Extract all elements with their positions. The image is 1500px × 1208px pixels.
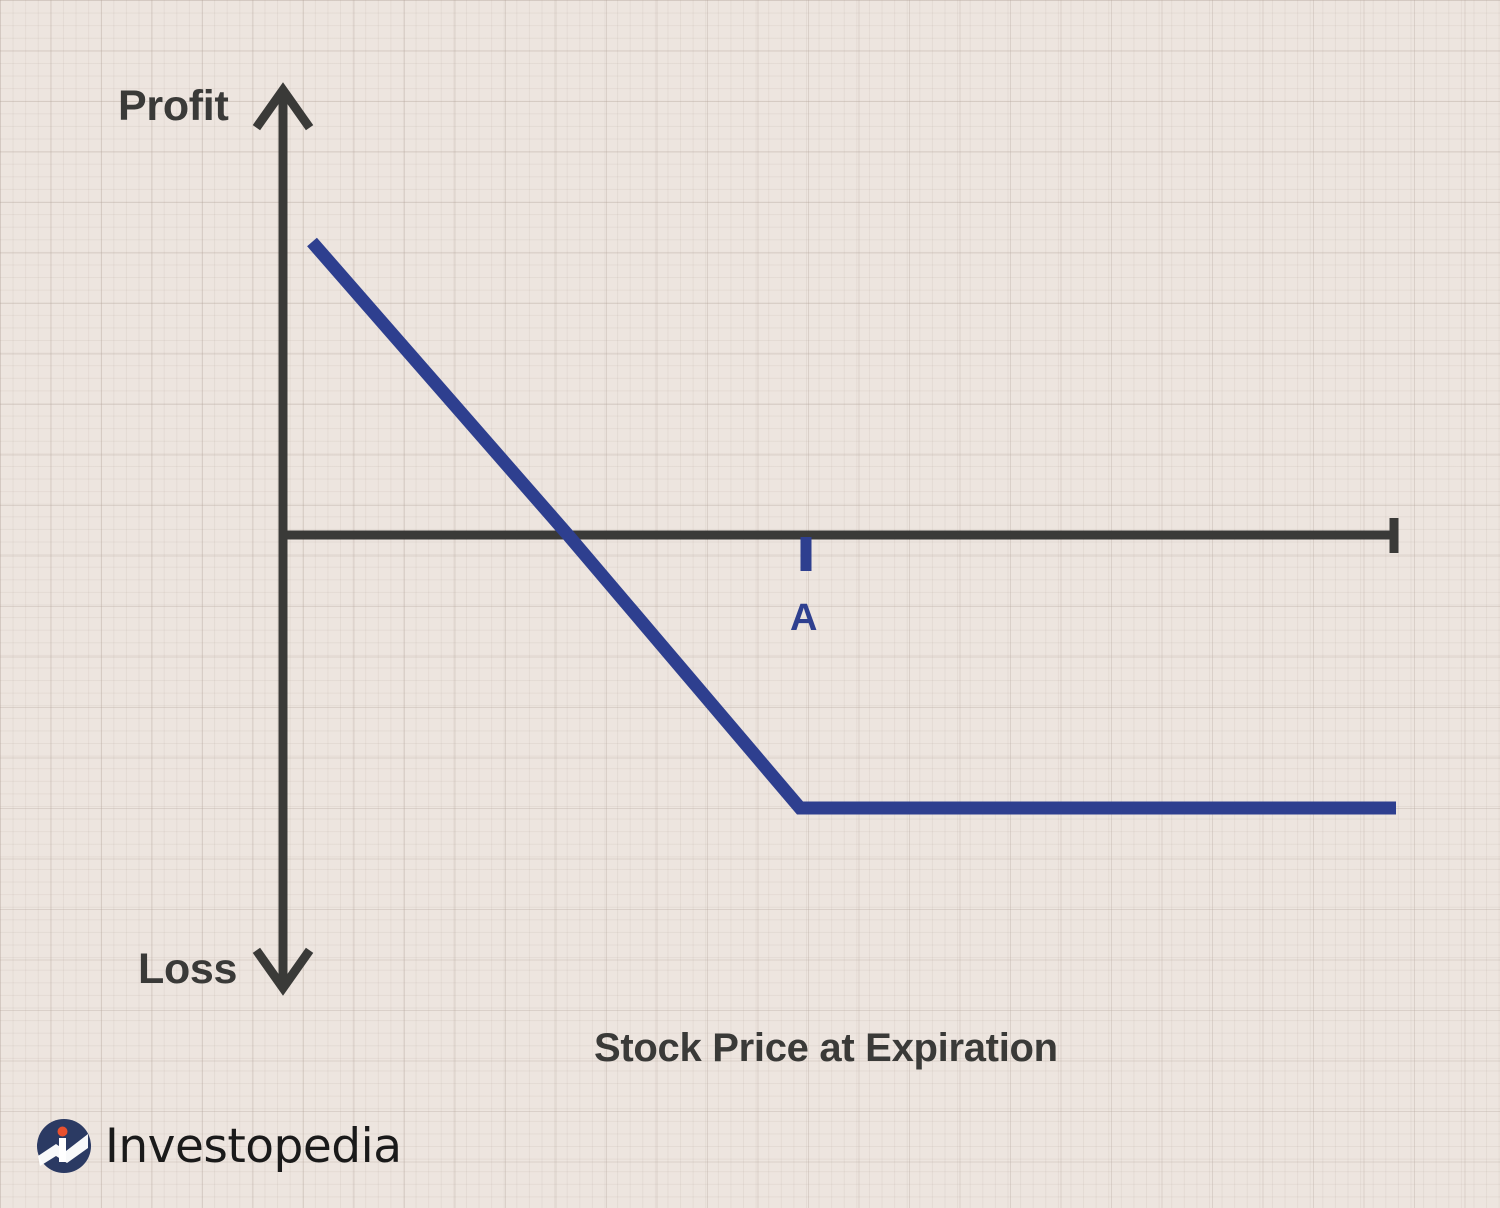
chart-canvas: Profit Loss A Stock Price at Expiration … [0,0,1500,1208]
investopedia-logo: Investopedia [36,1118,402,1174]
investopedia-wordmark: Investopedia [105,1123,402,1170]
y-axis-top-label: Profit [118,82,228,131]
payoff-line [312,242,1396,808]
arrow-down-icon [259,954,307,988]
arrow-up-icon [259,90,307,124]
investopedia-mark-icon [36,1118,92,1174]
x-axis-title: Stock Price at Expiration [594,1026,1058,1071]
y-axis-bottom-label: Loss [138,945,237,994]
strike-price-label: A [790,597,817,640]
